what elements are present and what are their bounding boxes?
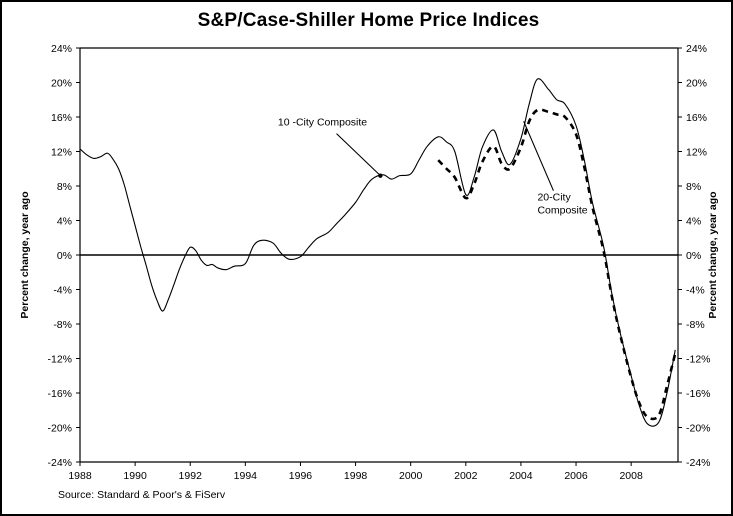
y-tick-label-left: -12% <box>47 354 72 366</box>
chart-canvas: 24%24%20%20%16%16%12%12%8%8%4%4%0%0%-4%-… <box>2 2 733 516</box>
y-tick-label-left: -8% <box>53 319 72 331</box>
x-tick-label: 1990 <box>123 470 147 482</box>
y-tick-label-left: 12% <box>51 147 72 159</box>
y-tick-label-left: -4% <box>53 285 72 297</box>
x-tick-label: 2004 <box>509 470 533 482</box>
x-tick-label: 2008 <box>619 470 643 482</box>
x-tick-label: 1988 <box>68 470 92 482</box>
x-tick-label: 1996 <box>289 470 313 482</box>
series-line-20-city <box>438 110 675 419</box>
y-tick-label-left: -16% <box>47 388 72 400</box>
y-tick-label-left: 4% <box>57 216 72 228</box>
annotation-20-city-label-line1: 20-City <box>537 192 571 204</box>
annotation-10-city-label: 10 -City Composite <box>278 117 367 129</box>
y-tick-label-right: -16% <box>686 388 711 400</box>
y-tick-label-right: 12% <box>686 147 707 159</box>
y-tick-label-left: -24% <box>47 457 72 469</box>
y-tick-label-left: -20% <box>47 423 72 435</box>
y-axis-title-right: Percent change, year ago <box>707 191 719 318</box>
y-tick-label-right: -20% <box>686 423 711 435</box>
x-tick-label: 2002 <box>454 470 478 482</box>
annotation-10-city-anchor-dot <box>378 173 382 177</box>
y-tick-label-right: -24% <box>686 457 711 469</box>
y-tick-label-right: 20% <box>686 78 707 90</box>
source-note: Source: Standard & Poor's & FiServ <box>58 489 225 501</box>
y-tick-label-right: 16% <box>686 112 707 124</box>
x-tick-label: 2000 <box>399 470 423 482</box>
y-axis-title-left: Percent change, year ago <box>19 191 31 318</box>
annotation-20-city-leader <box>524 121 554 190</box>
y-tick-label-left: 16% <box>51 112 72 124</box>
y-tick-label-right: 4% <box>686 216 701 228</box>
y-tick-label-right: -12% <box>686 354 711 366</box>
x-tick-label: 1992 <box>179 470 203 482</box>
y-tick-label-left: 20% <box>51 78 72 90</box>
y-tick-label-right: 8% <box>686 181 701 193</box>
y-tick-label-right: -4% <box>686 285 705 297</box>
series-group <box>80 79 675 427</box>
y-tick-label-left: 0% <box>57 250 72 262</box>
x-tick-label: 1998 <box>344 470 368 482</box>
y-tick-label-left: 24% <box>51 43 72 55</box>
x-tick-label: 2006 <box>564 470 588 482</box>
series-line-10-city <box>80 79 675 427</box>
axes-group: 24%24%20%20%16%16%12%12%8%8%4%4%0%0%-4%-… <box>19 43 719 482</box>
chart-frame: S&P/Case-Shiller Home Price Indices 24%2… <box>0 0 733 516</box>
x-tick-label: 1994 <box>234 470 258 482</box>
annotation-20-city-label-line2: Composite <box>537 205 587 217</box>
y-tick-label-left: 8% <box>57 181 72 193</box>
annotations-group: 10 -City Composite20-CityComposite <box>278 117 588 217</box>
y-tick-label-right: 0% <box>686 250 701 262</box>
annotation-10-city-leader <box>337 134 381 176</box>
y-tick-label-right: 24% <box>686 43 707 55</box>
y-tick-label-right: -8% <box>686 319 705 331</box>
